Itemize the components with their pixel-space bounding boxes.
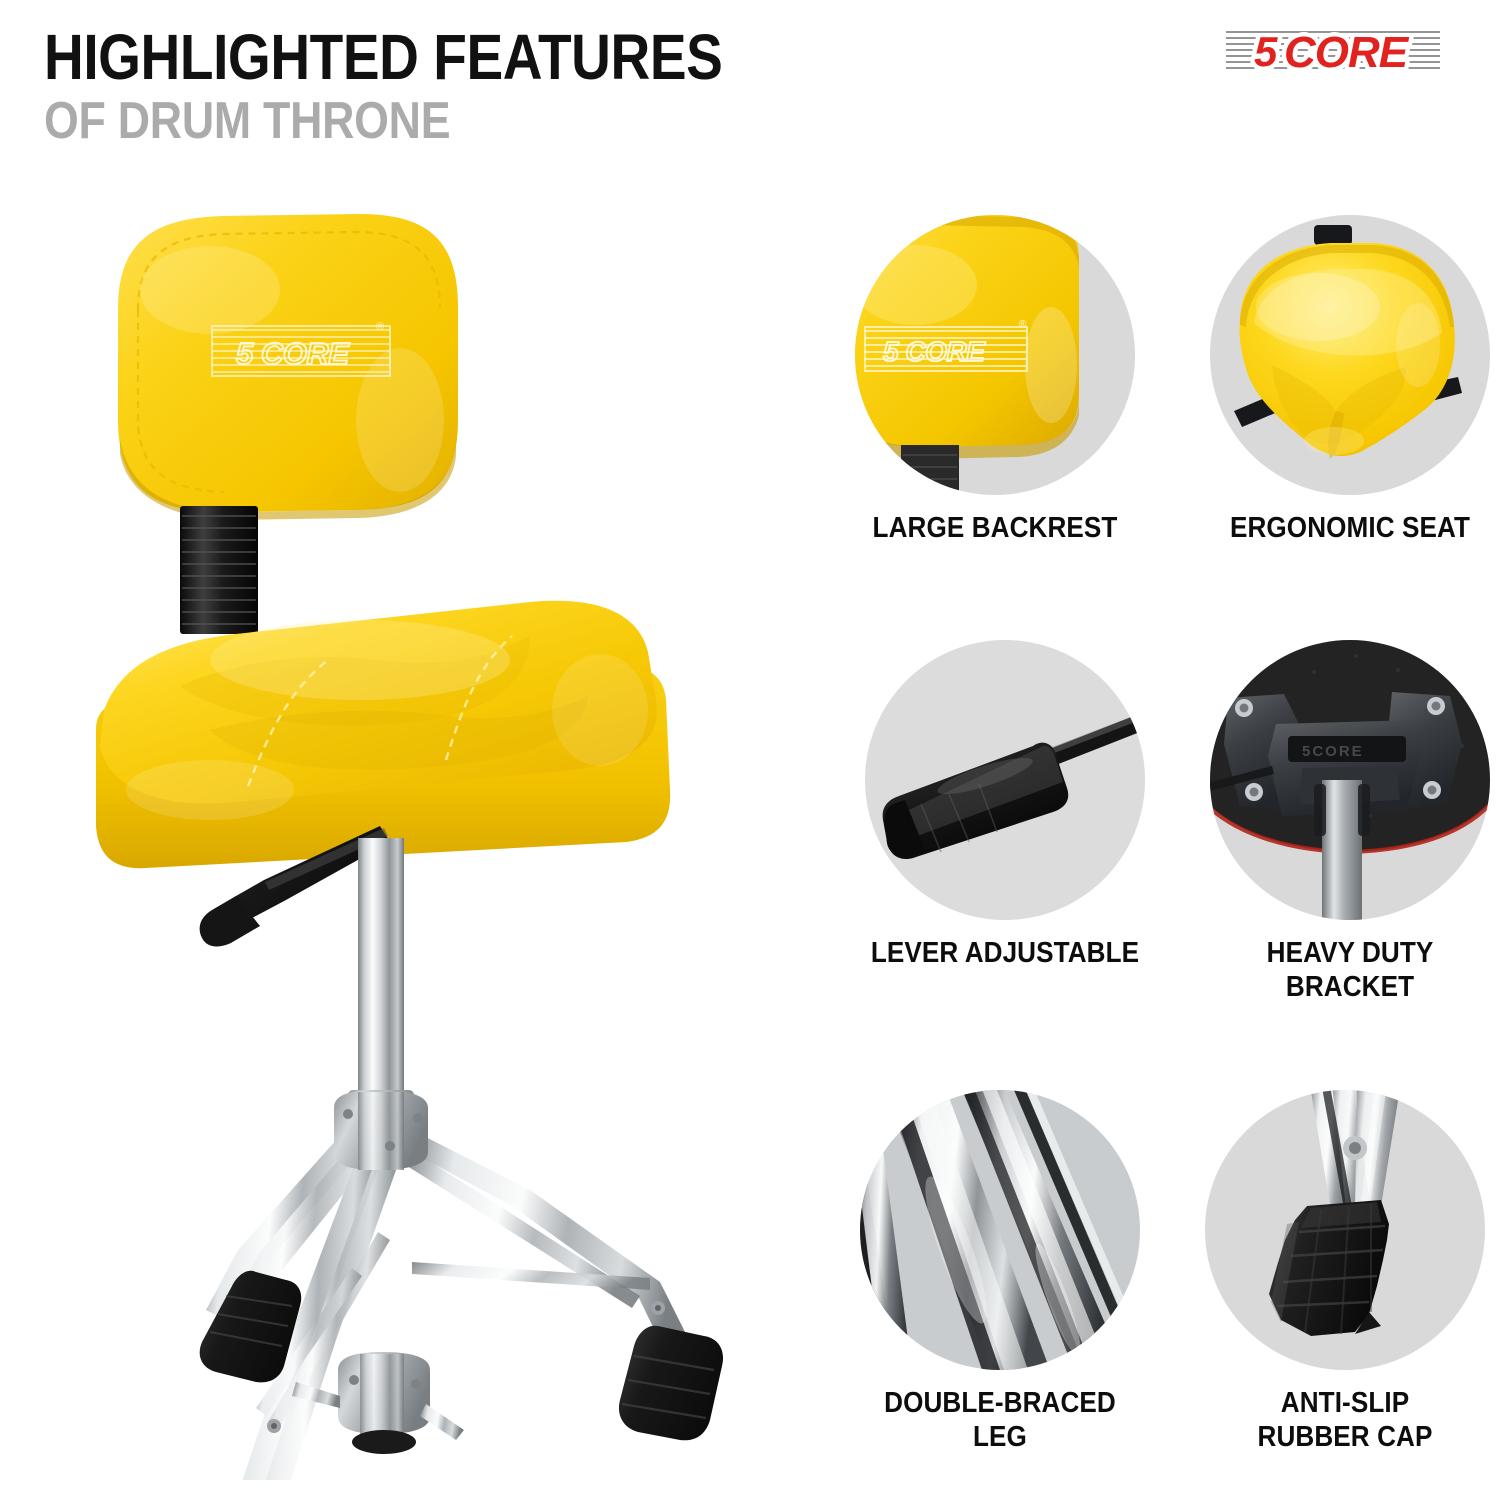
feature-lever-adjustable: LEVER ADJUSTABLE — [855, 640, 1155, 970]
rubber-cap-closeup-circle — [1205, 1090, 1485, 1370]
lever-closeup-circle — [865, 640, 1145, 920]
infographic-page: HIGHLIGHTED FEATURES OF DRUM THRONE — [0, 0, 1500, 1500]
ribbed-backrest-post — [180, 506, 258, 634]
large-backrest-cushion: 5 CORE ® — [118, 214, 458, 520]
chrome-center-post — [348, 838, 414, 1124]
feature-thumbnail — [860, 1090, 1140, 1370]
backrest-closeup-circle: 5 CORE ® — [855, 215, 1135, 495]
backrest-trademark: ® — [376, 321, 384, 333]
feature-label-lever-adjustable: LEVER ADJUSTABLE — [870, 936, 1140, 970]
feature-label-anti-slip-rubber-cap: ANTI-SLIP RUBBER CAP — [1210, 1386, 1480, 1454]
chrome-legs-closeup-icon — [860, 1090, 1140, 1370]
logo-word-core: CORE — [1284, 28, 1410, 77]
feature-anti-slip-rubber-cap: ANTI-SLIP RUBBER CAP — [1195, 1090, 1495, 1454]
thumb-trademark: ® — [1019, 319, 1027, 330]
rubber-cap-closeup-icon — [1205, 1090, 1485, 1370]
svg-text:5CORE: 5CORE — [1302, 743, 1364, 760]
chrome-post — [1322, 780, 1362, 920]
bracket-underside-icon: 5CORE — [1210, 640, 1490, 920]
page-subtitle: OF DRUM THRONE — [44, 95, 722, 147]
pivot-bolt — [1343, 1136, 1367, 1160]
backrest-logo-text: 5 CORE — [236, 336, 350, 371]
double-braced-tripod-legs — [200, 1090, 723, 1480]
thumb-logo-text: 5 CORE — [883, 336, 986, 367]
post-stub — [901, 445, 959, 495]
feature-ergonomic-seat: ERGONOMIC SEAT — [1200, 215, 1500, 545]
feature-thumbnail — [1205, 1090, 1485, 1370]
bracket-underside-circle: 5CORE — [1210, 640, 1490, 920]
feature-label-heavy-duty-bracket: HEAVY DUTY BRACKET — [1215, 936, 1485, 1004]
lever-closeup-icon — [865, 640, 1145, 920]
brand-logo: 5 CORE 5 CORE — [1224, 20, 1442, 82]
feature-thumbnail: 5 CORE ® — [855, 215, 1135, 495]
saddle-seat-cushion — [96, 601, 670, 868]
feature-thumbnail: 5CORE — [1210, 640, 1490, 920]
seat-top-view-circle — [1210, 215, 1490, 495]
feature-label-large-backrest: LARGE BACKREST — [860, 511, 1130, 545]
feature-double-braced-leg: DOUBLE-BRACED LEG — [850, 1090, 1150, 1454]
logo-digit-5: 5 — [1254, 28, 1278, 75]
chrome-legs-closeup-circle — [860, 1090, 1140, 1370]
backrest-closeup-icon: 5 CORE ® — [855, 215, 1135, 495]
5-core-logo-icon: 5 CORE 5 CORE — [1224, 20, 1442, 82]
upper-hub-collar — [334, 1090, 428, 1170]
seat-top-view-icon — [1210, 215, 1490, 495]
feature-label-double-braced-leg: DOUBLE-BRACED LEG — [865, 1386, 1135, 1454]
rubber-foot-cap — [1269, 1200, 1389, 1336]
logo-text: 5 CORE — [1254, 28, 1410, 77]
drum-throne-illustration: 5 CORE ® — [60, 190, 760, 1480]
feature-label-ergonomic-seat: ERGONOMIC SEAT — [1215, 511, 1485, 545]
drum-throne-product-photo: 5 CORE ® — [60, 190, 760, 1480]
seat-tab-top — [1314, 225, 1352, 245]
anti-slip-rubber-cap — [619, 1326, 723, 1441]
feature-heavy-duty-bracket: 5CORE HEAVY D — [1200, 640, 1500, 1004]
page-title-block: HIGHLIGHTED FEATURES OF DRUM THRONE — [44, 26, 833, 147]
feature-thumbnail — [1210, 215, 1490, 495]
page-title: HIGHLIGHTED FEATURES — [44, 26, 722, 89]
feature-large-backrest: 5 CORE ® LARGE BACKREST — [845, 215, 1145, 545]
feature-thumbnail — [865, 640, 1145, 920]
